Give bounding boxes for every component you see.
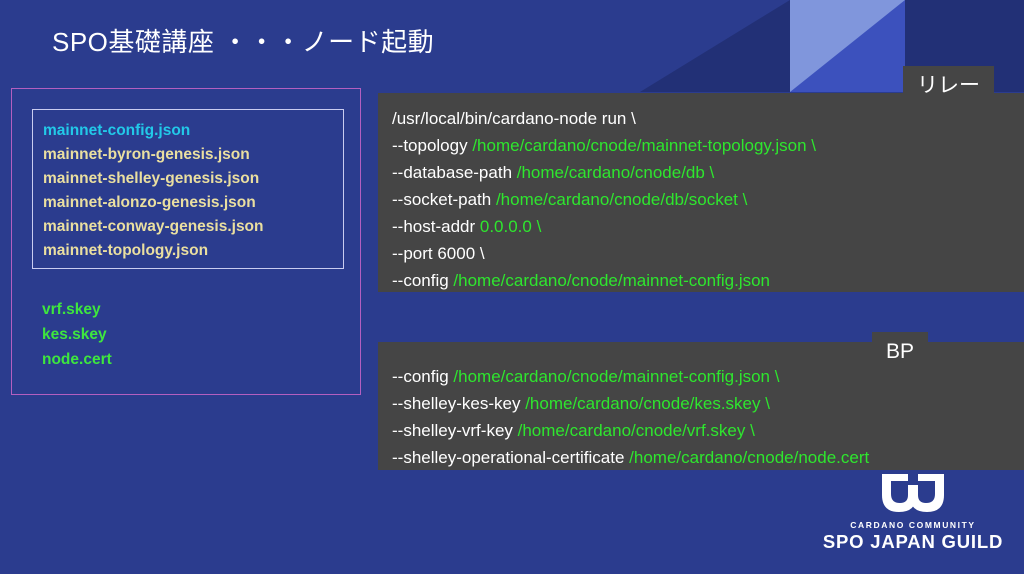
config-files-panel: mainnet-config.json mainnet-byron-genesi… bbox=[11, 88, 361, 395]
code-argument: /home/cardano/cnode/db \ bbox=[517, 163, 715, 182]
code-argument: /home/cardano/cnode/mainnet-config.json bbox=[453, 271, 770, 290]
code-line: --shelley-kes-key /home/cardano/cnode/ke… bbox=[392, 390, 1024, 417]
code-argument: /home/cardano/cnode/db/socket \ bbox=[496, 190, 747, 209]
decoration-mid-blue-block bbox=[790, 0, 905, 92]
code-argument: /home/cardano/cnode/kes.skey \ bbox=[525, 394, 770, 413]
bp-label-badge: BP bbox=[872, 332, 928, 373]
guild-shield-jj-icon bbox=[880, 472, 946, 516]
code-argument: /home/cardano/cnode/mainnet-topology.jso… bbox=[472, 136, 816, 155]
list-item: mainnet-alonzo-genesis.json bbox=[43, 191, 343, 215]
code-argument: 0.0.0.0 \ bbox=[480, 217, 541, 236]
key-file-list: vrf.skey kes.skey node.cert bbox=[42, 297, 112, 372]
code-line: /usr/local/bin/cardano-node run \ bbox=[392, 105, 1024, 132]
code-argument: /home/cardano/cnode/mainnet-config.json … bbox=[453, 367, 779, 386]
decoration-navy-triangle bbox=[640, 0, 790, 92]
relay-label-badge: リレー bbox=[903, 66, 994, 107]
logo-name: SPO JAPAN GUILD bbox=[822, 531, 1004, 553]
code-line: --topology /home/cardano/cnode/mainnet-t… bbox=[392, 132, 1024, 159]
list-item: mainnet-conway-genesis.json bbox=[43, 215, 343, 239]
code-command: --config bbox=[392, 271, 453, 290]
code-command: --database-path bbox=[392, 163, 517, 182]
code-line: --socket-path /home/cardano/cnode/db/soc… bbox=[392, 186, 1024, 213]
code-command: --port 6000 \ bbox=[392, 244, 485, 263]
list-item: mainnet-byron-genesis.json bbox=[43, 143, 343, 167]
list-item: mainnet-shelley-genesis.json bbox=[43, 167, 343, 191]
code-line: --database-path /home/cardano/cnode/db \ bbox=[392, 159, 1024, 186]
logo-subtitle: CARDANO COMMUNITY bbox=[822, 520, 1004, 530]
code-command: --shelley-operational-certificate bbox=[392, 448, 629, 467]
code-line: --shelley-vrf-key /home/cardano/cnode/vr… bbox=[392, 417, 1024, 444]
list-item: vrf.skey bbox=[42, 297, 112, 322]
config-file-list-box: mainnet-config.json mainnet-byron-genesi… bbox=[32, 109, 344, 269]
decoration-navy-block bbox=[640, 0, 790, 92]
list-item: node.cert bbox=[42, 347, 112, 372]
code-line: --config /home/cardano/cnode/mainnet-con… bbox=[392, 267, 1024, 294]
code-argument: /home/cardano/cnode/node.cert bbox=[629, 448, 869, 467]
page-title: SPO基礎講座 ・・・ノード起動 bbox=[52, 22, 434, 59]
code-command: /usr/local/bin/cardano-node run \ bbox=[392, 109, 636, 128]
code-command: --host-addr bbox=[392, 217, 480, 236]
code-argument: /home/cardano/cnode/vrf.skey \ bbox=[518, 421, 755, 440]
code-line: --port 6000 \ bbox=[392, 240, 1024, 267]
list-item: mainnet-config.json bbox=[43, 119, 343, 143]
code-line: --shelley-operational-certificate /home/… bbox=[392, 444, 1024, 471]
code-line: --host-addr 0.0.0.0 \ bbox=[392, 213, 1024, 240]
code-command: --config bbox=[392, 367, 453, 386]
decoration-light-blue-triangle bbox=[790, 0, 905, 92]
code-command: --shelley-vrf-key bbox=[392, 421, 518, 440]
spo-japan-guild-logo: CARDANO COMMUNITY SPO JAPAN GUILD bbox=[822, 472, 1004, 553]
list-item: kes.skey bbox=[42, 322, 112, 347]
slide-canvas: SPO基礎講座 ・・・ノード起動 mainnet-config.json mai… bbox=[0, 0, 1024, 574]
code-command: --socket-path bbox=[392, 190, 496, 209]
code-command: --topology bbox=[392, 136, 472, 155]
relay-command-block: /usr/local/bin/cardano-node run \ --topo… bbox=[372, 93, 1024, 292]
code-line: --config /home/cardano/cnode/mainnet-con… bbox=[392, 363, 1024, 390]
code-command: --shelley-kes-key bbox=[392, 394, 525, 413]
list-item: mainnet-topology.json bbox=[43, 239, 343, 263]
